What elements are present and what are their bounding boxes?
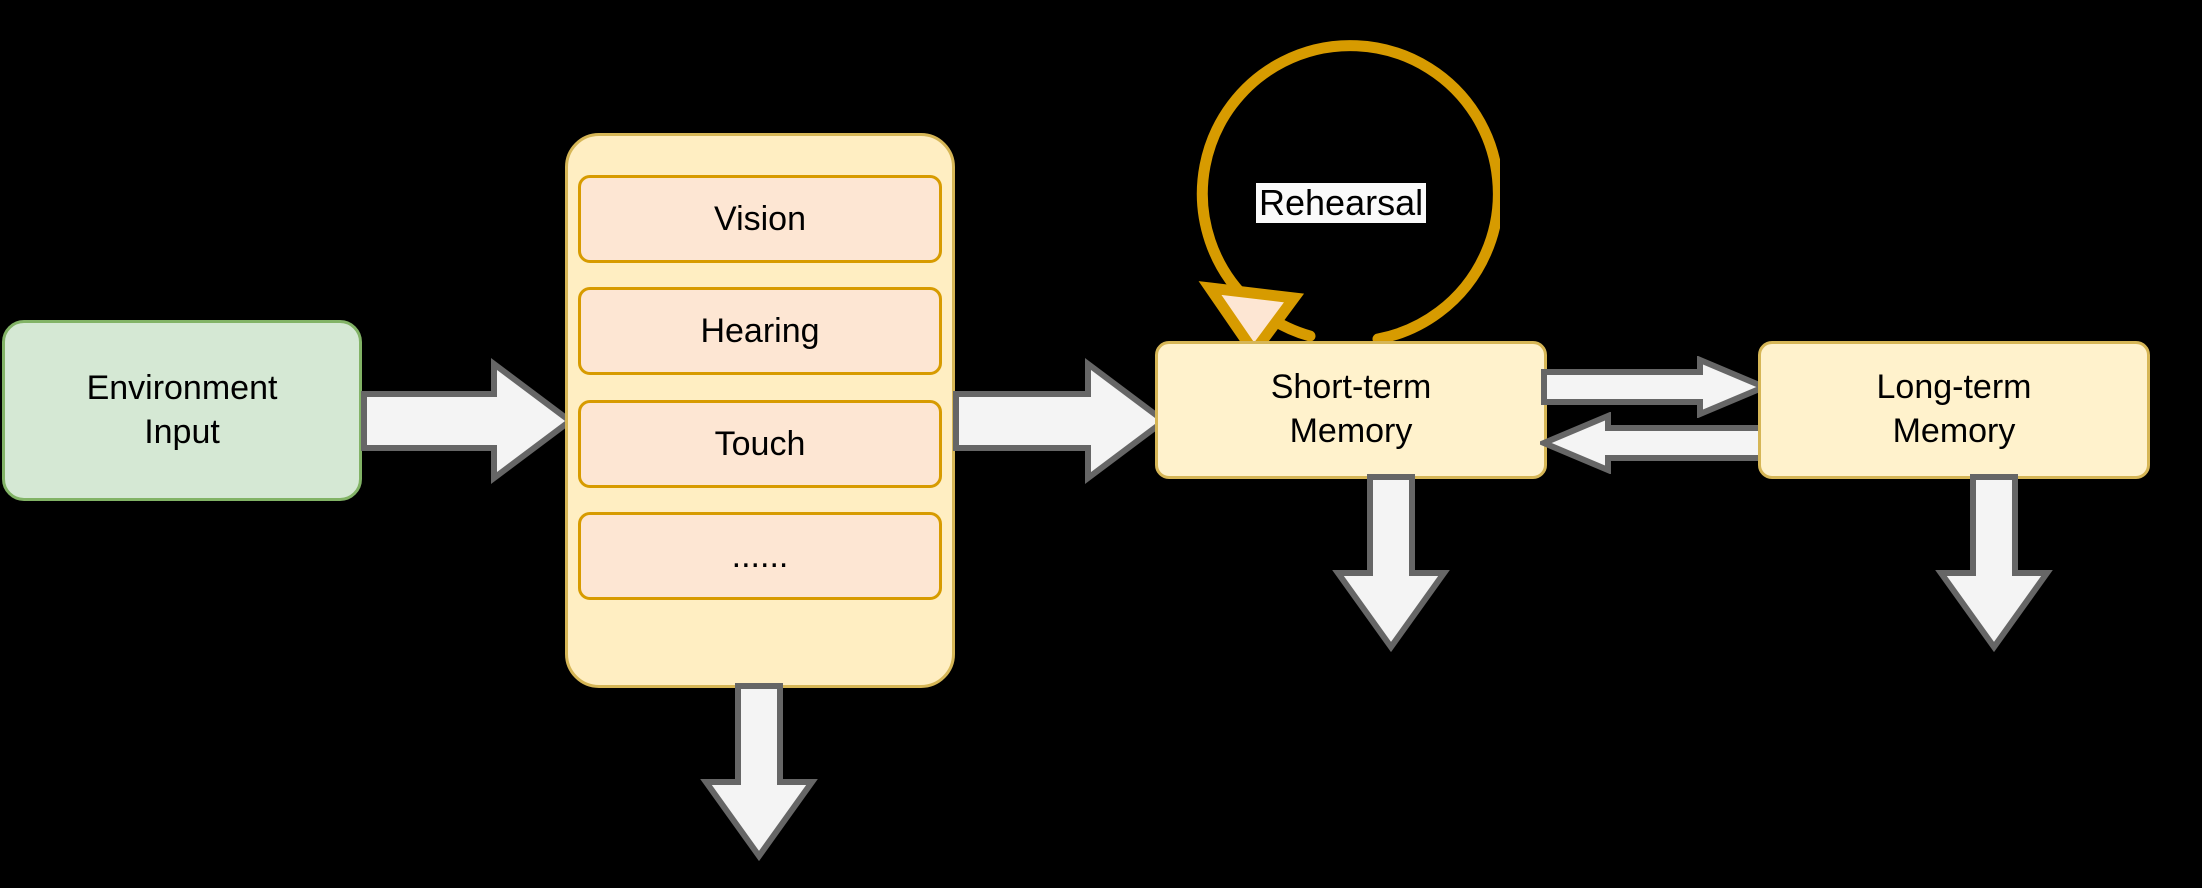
arrow-environment-to-sensory xyxy=(358,358,576,484)
sensory-item-vision[interactable]: Vision xyxy=(578,175,942,263)
arrow-short-term-to-long-term-memory xyxy=(1540,356,1768,418)
diagram-canvas: Environment Input Vision Hearing Touch .… xyxy=(0,0,2202,888)
sensory-item-hearing[interactable]: Hearing xyxy=(578,287,942,375)
sensory-item-touch[interactable]: Touch xyxy=(578,400,942,488)
sensory-item-ellipsis[interactable]: ...... xyxy=(578,512,942,600)
node-short-term-memory[interactable]: Short-term Memory xyxy=(1155,341,1547,479)
arrow-long-term-to-short-term-memory xyxy=(1540,412,1768,474)
node-environment-input[interactable]: Environment Input xyxy=(2,320,362,501)
arrow-sensory-memory-decay-down xyxy=(700,682,818,862)
node-long-term-memory[interactable]: Long-term Memory xyxy=(1758,341,2150,479)
rehearsal-label: Rehearsal xyxy=(1256,183,1426,223)
arrow-sensory-to-short-term-memory xyxy=(950,358,1170,484)
arrow-long-term-memory-decay-down xyxy=(1935,473,2053,653)
arrow-short-term-memory-decay-down xyxy=(1332,473,1450,653)
